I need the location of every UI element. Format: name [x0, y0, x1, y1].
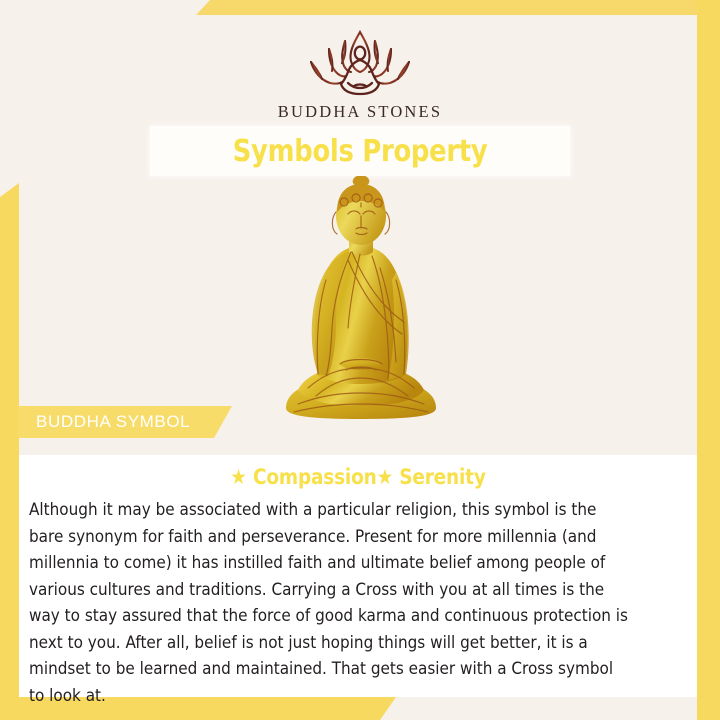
- section-ribbon: BUDDHA SYMBOL: [18, 406, 232, 438]
- lotus-meditation-icon: [285, 26, 435, 100]
- section-ribbon-label: BUDDHA SYMBOL: [18, 412, 190, 432]
- decorative-bar-top-right: [196, 0, 720, 15]
- decorative-bar-left: [0, 183, 19, 720]
- content-body: Although it may be associated with a par…: [29, 497, 630, 709]
- page-title: Symbols Property: [233, 134, 488, 169]
- poster-root: BUDDHA STONES Symbols Property: [0, 0, 720, 720]
- brand-header: BUDDHA STONES: [0, 26, 720, 122]
- content-panel: ★ Compassion★ Serenity Although it may b…: [19, 455, 697, 697]
- content-subtitle: ★ Compassion★ Serenity: [60, 465, 657, 489]
- title-banner: Symbols Property: [150, 126, 570, 176]
- golden-buddha-statue-image: [268, 176, 454, 422]
- brand-name: BUDDHA STONES: [0, 102, 720, 122]
